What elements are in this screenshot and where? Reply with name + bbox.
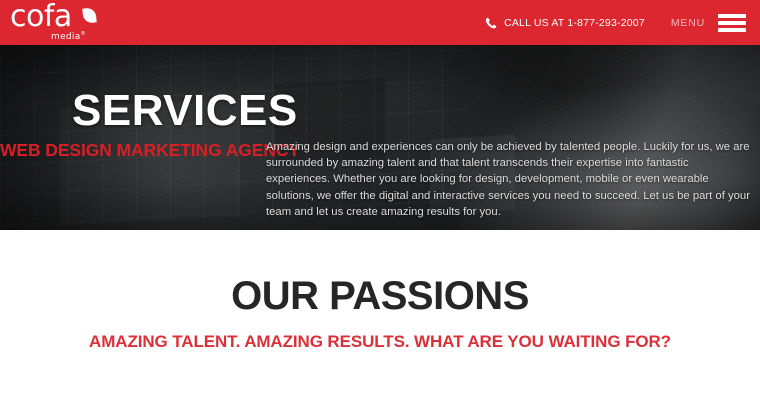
- hero-content: SERVICES WEB DESIGN MARKETING AGENCY Ama…: [0, 45, 760, 230]
- menu-label: MENU: [671, 17, 705, 29]
- passions-subtitle: AMAZING TALENT. AMAZING RESULTS. WHAT AR…: [0, 331, 760, 353]
- hamburger-icon[interactable]: [718, 14, 746, 32]
- call-us-text: CALL US AT 1-877-293-2007: [504, 17, 645, 29]
- call-us-link[interactable]: CALL US AT 1-877-293-2007: [485, 17, 645, 29]
- hero-banner: SERVICES WEB DESIGN MARKETING AGENCY Ama…: [0, 45, 760, 230]
- passions-section: OUR PASSIONS AMAZING TALENT. AMAZING RES…: [0, 230, 760, 400]
- hero-description: Amazing design and experiences can only …: [266, 139, 753, 220]
- menu-button[interactable]: MENU: [671, 14, 746, 32]
- page-title: SERVICES: [72, 89, 298, 133]
- page-subtitle: WEB DESIGN MARKETING AGENCY: [0, 140, 250, 160]
- header-right-group: CALL US AT 1-877-293-2007 MENU: [485, 0, 760, 45]
- hamburger-bar: [718, 28, 746, 32]
- hamburger-bar: [718, 14, 746, 18]
- logo-trademark: ®: [81, 31, 86, 37]
- logo-wordmark: cofa: [10, 2, 120, 32]
- passions-title: OUR PASSIONS: [0, 274, 760, 318]
- logo-subtext: media®: [51, 31, 86, 42]
- logo[interactable]: cofa media®: [10, 2, 120, 44]
- hamburger-bar: [718, 21, 746, 25]
- logo-subtext-label: media: [51, 32, 81, 42]
- phone-icon: [485, 17, 497, 29]
- site-header: cofa media® CALL US AT 1-877-293-2007 ME…: [0, 0, 760, 45]
